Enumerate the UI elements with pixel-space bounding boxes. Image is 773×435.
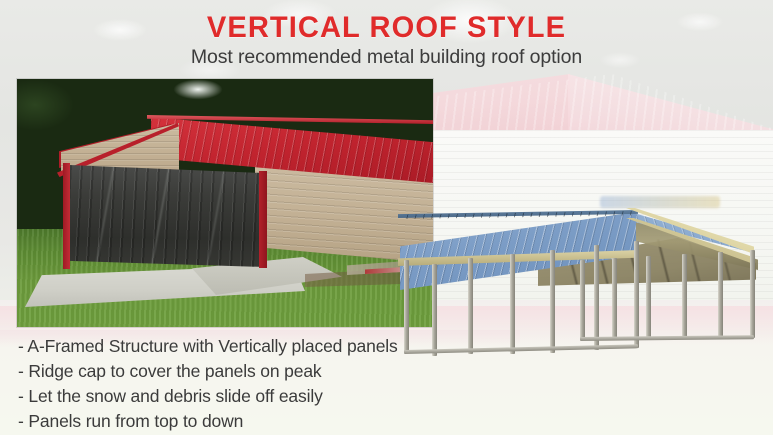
garage-photo <box>17 79 433 327</box>
carport-post-back-6 <box>750 250 755 338</box>
page-subtitle: Most recommended metal building roof opt… <box>0 46 773 69</box>
list-item: - A-Framed Structure with Vertically pla… <box>18 334 488 359</box>
feature-list: - A-Framed Structure with Vertically pla… <box>18 334 488 434</box>
carport-post-front-5 <box>550 250 555 353</box>
vertical-roof-style-banner: VERTICAL ROOF STYLE Most recommended met… <box>0 0 773 435</box>
photo-corner-post-left <box>63 163 70 269</box>
carport-post-back-4 <box>682 254 687 338</box>
carport-post-back-1 <box>580 260 585 338</box>
carport-post-back-5 <box>718 252 723 338</box>
carport-post-front-4 <box>510 254 515 354</box>
list-item: - Ridge cap to cover the panels on peak <box>18 359 488 384</box>
photo-open-bay-braces <box>69 165 265 267</box>
list-item: - Panels run from top to down <box>18 409 488 434</box>
photo-sky-gap <box>167 79 229 105</box>
carport-post-back-2 <box>612 258 617 338</box>
carport-post-back-3 <box>646 256 651 338</box>
photo-corner-post-right <box>259 171 267 268</box>
page-title: VERTICAL ROOF STYLE <box>12 11 762 45</box>
carport-base-rail-back <box>580 335 754 341</box>
list-item: - Let the snow and debris slide off easi… <box>18 384 488 409</box>
carport-post-front-7 <box>634 241 639 348</box>
carport-post-front-6 <box>594 245 599 350</box>
